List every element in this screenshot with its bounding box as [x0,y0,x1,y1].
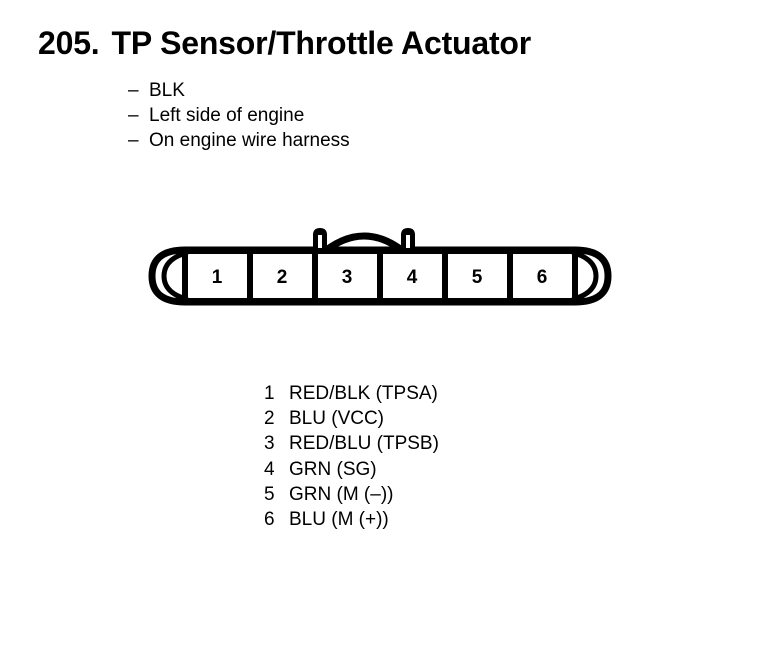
pin-cell-group [185,251,575,301]
pin-number-5: 5 [472,267,483,288]
dash-icon: – [128,78,149,103]
legend-wire-label: GRN (SG) [289,459,377,480]
pin-number-4: 4 [407,267,418,288]
legend-row: 6BLU (M (+)) [264,507,439,532]
legend-wire-label: RED/BLK (TPSA) [289,383,438,404]
page-title-name: TP Sensor/Throttle Actuator [111,25,531,61]
connector-diagram: 1 2 3 4 5 6 [145,218,615,338]
legend-pin-number: 3 [264,431,289,456]
spec-item-label: On engine wire harness [149,130,350,151]
dash-icon: – [128,103,149,128]
spec-item-1: –Left side of engine [128,103,350,128]
legend-row: 5GRN (M (–)) [264,482,439,507]
legend-pin-number: 4 [264,457,289,482]
legend-row: 4GRN (SG) [264,457,439,482]
legend-row: 2BLU (VCC) [264,406,439,431]
spec-list: –BLK –Left side of engine –On engine wir… [128,78,350,153]
legend-row: 1RED/BLK (TPSA) [264,381,439,406]
pin-number-1: 1 [212,267,223,288]
pin-number-3: 3 [342,267,353,288]
pin-number-6: 6 [537,267,548,288]
legend-wire-label: BLU (VCC) [289,408,384,429]
dash-icon: – [128,128,149,153]
legend-pin-number: 5 [264,482,289,507]
spec-item-0: –BLK [128,78,350,103]
legend-wire-label: BLU (M (+)) [289,509,389,530]
legend-row: 3RED/BLU (TPSB) [264,431,439,456]
pin-number-2: 2 [277,267,288,288]
spec-item-label: BLK [149,80,185,101]
page-title-number: 205. [38,25,99,61]
legend-wire-label: RED/BLU (TPSB) [289,433,439,454]
page-title: 205.TP Sensor/Throttle Actuator [38,24,531,62]
legend-pin-number: 6 [264,507,289,532]
legend-pin-number: 2 [264,406,289,431]
legend-pin-number: 1 [264,381,289,406]
spec-item-label: Left side of engine [149,105,304,126]
legend-wire-label: GRN (M (–)) [289,484,393,505]
spec-item-2: –On engine wire harness [128,128,350,153]
pin-legend: 1RED/BLK (TPSA) 2BLU (VCC) 3RED/BLU (TPS… [264,381,439,532]
